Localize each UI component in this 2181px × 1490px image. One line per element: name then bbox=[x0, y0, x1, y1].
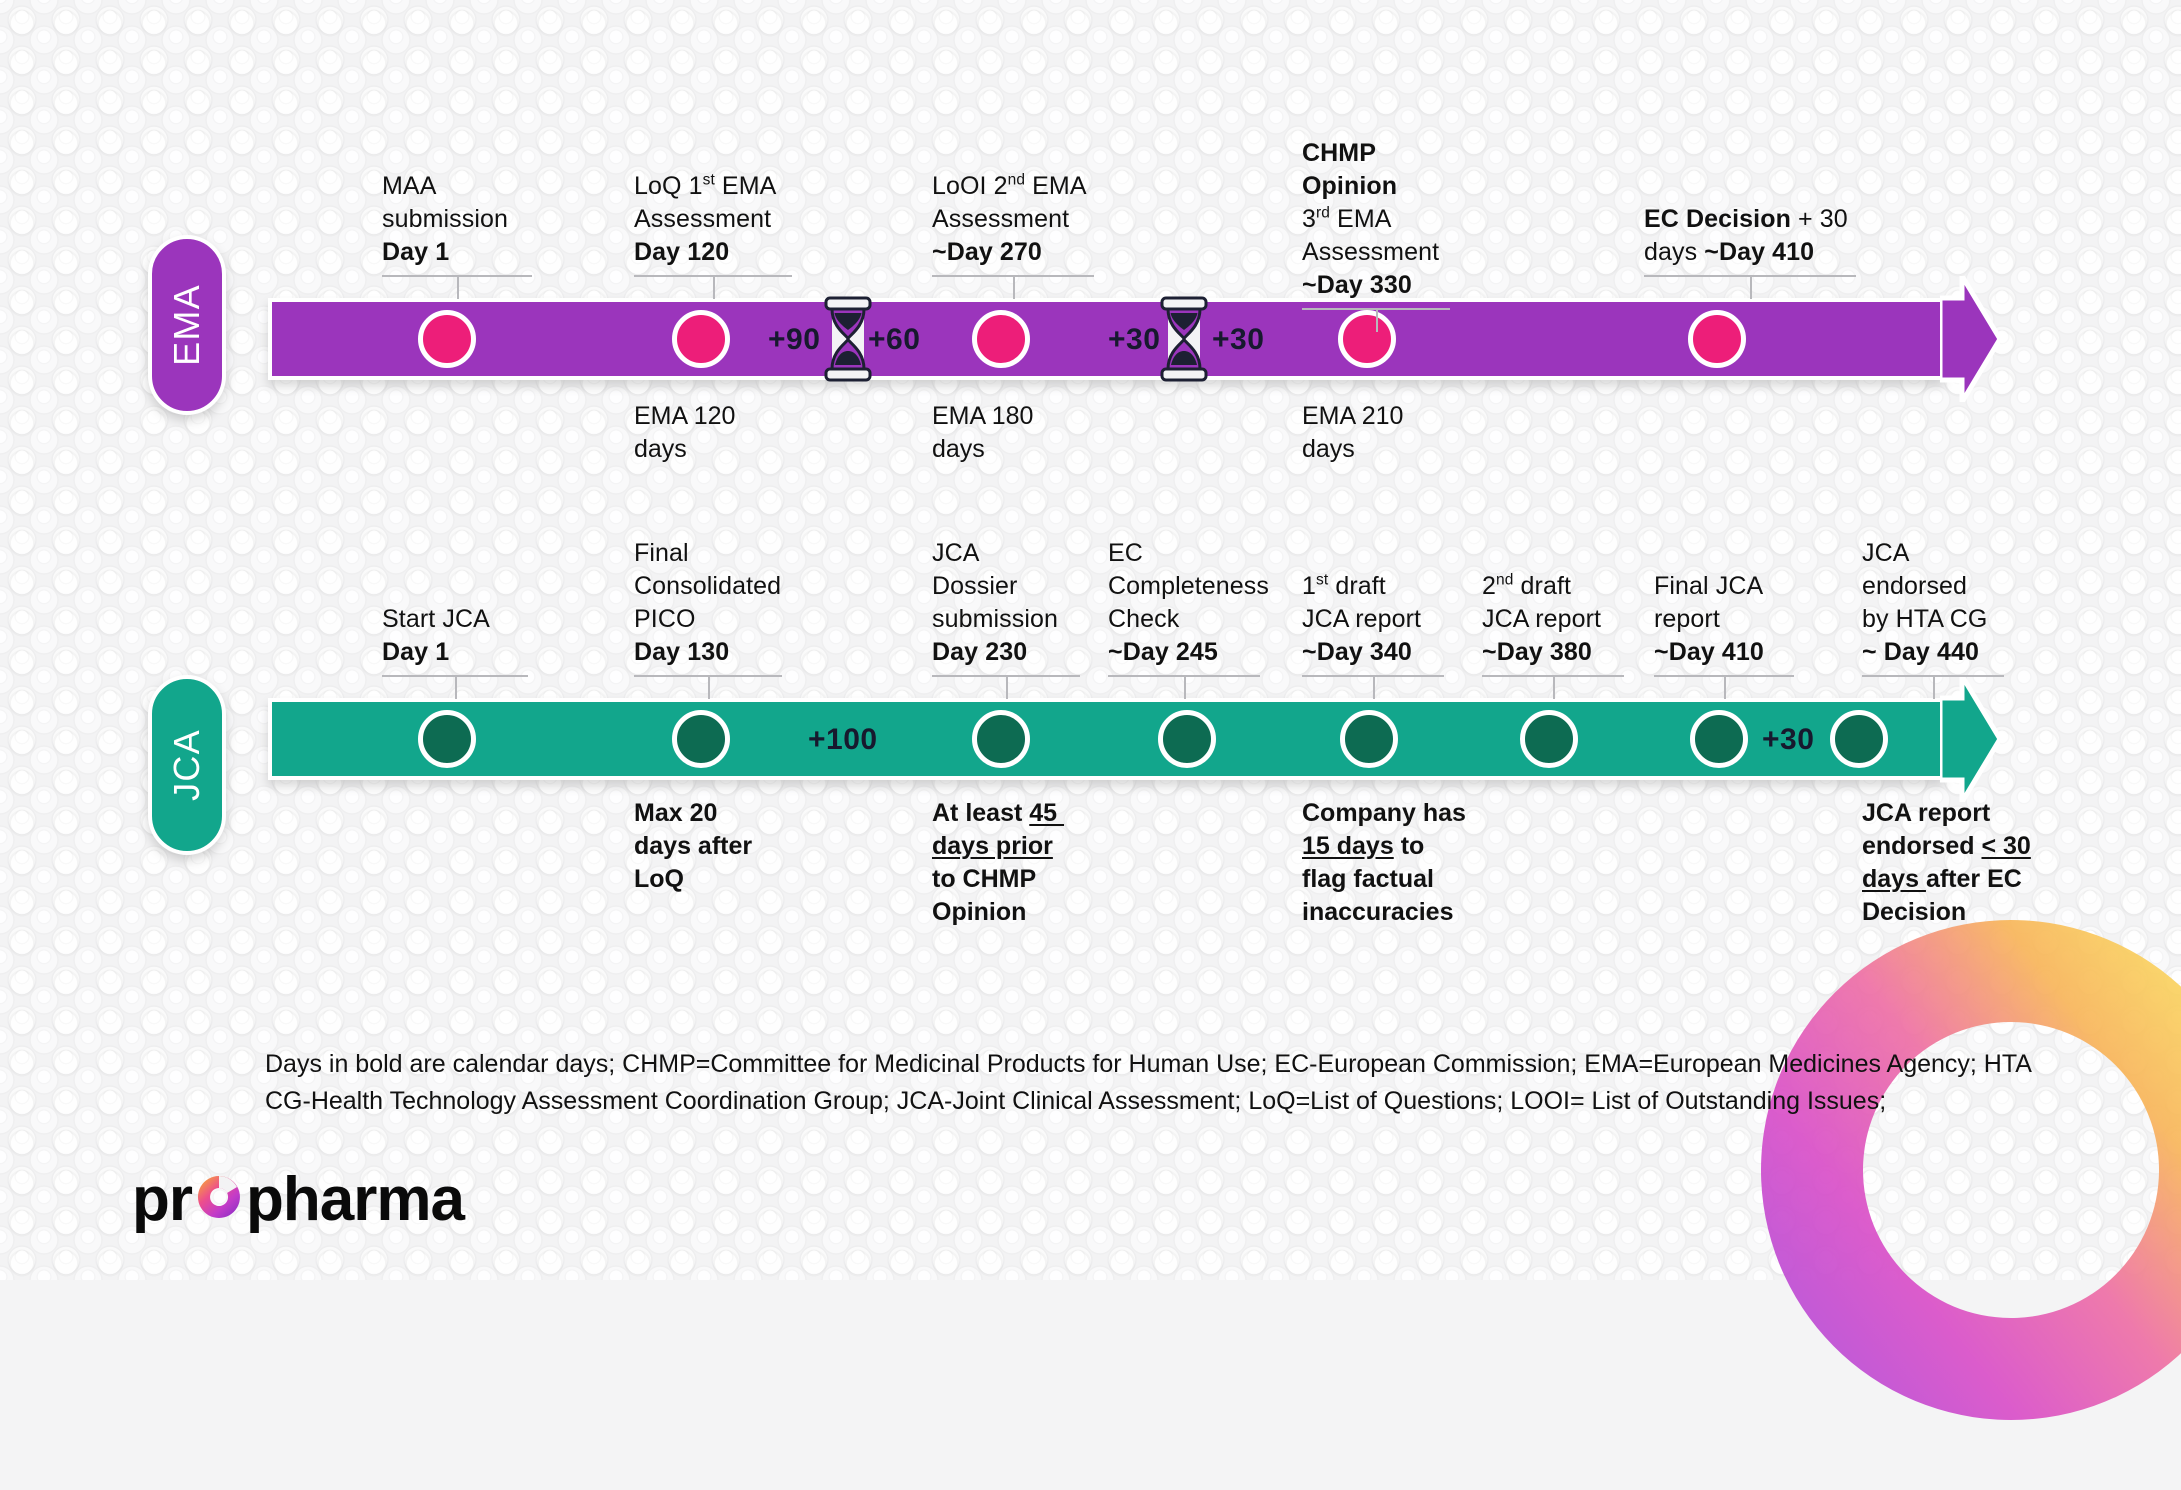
ema-gap-label-2: +60 bbox=[868, 323, 920, 357]
logo-text-post: pharma bbox=[246, 1168, 464, 1232]
jca-callout-4-connector bbox=[1108, 675, 1260, 677]
ema-callout-1-connector bbox=[382, 275, 532, 277]
ema-callout-2-connector bbox=[634, 275, 792, 277]
footnote-text: Days in bold are calendar days; CHMP=Com… bbox=[265, 1046, 2065, 1120]
ema-gap-label-4: +30 bbox=[1212, 323, 1264, 357]
jca-callout-8-line3: by HTA CG bbox=[1862, 605, 1987, 633]
jca-callout-6: 2nd draft JCA report ~Day 380 bbox=[1482, 570, 1624, 677]
jca-callout-7-connector bbox=[1654, 675, 1794, 677]
ema-bar-arrowhead bbox=[1940, 276, 2000, 402]
jca-callout-4-line1: EC bbox=[1108, 539, 1143, 567]
jca-callout-7-line1: Final JCA bbox=[1654, 572, 1763, 600]
ema-callout-4: CHMP Opinion 3rd EMA Assessment ~Day 330 bbox=[1302, 137, 1450, 310]
ema-callout-5: EC Decision + 30 days ~Day 410 bbox=[1644, 203, 1856, 277]
jca-callout-1: Start JCA Day 1 bbox=[382, 603, 528, 677]
jca-callout-7-line2: report bbox=[1654, 605, 1720, 633]
jca-callout-8: JCA endorsed by HTA CG ~ Day 440 bbox=[1862, 537, 2004, 677]
jca-callout-6-day: ~Day 380 bbox=[1482, 638, 1592, 666]
ema-callout-4-title: CHMP Opinion bbox=[1302, 139, 1397, 200]
jca-callout-3-day: Day 230 bbox=[932, 638, 1027, 666]
jca-milestone-dot-8[interactable] bbox=[1830, 710, 1888, 768]
ema-sub-label-2: EMA 180days bbox=[932, 400, 1033, 466]
ema-callout-3: LoOI 2nd EMA Assessment ~Day 270 bbox=[932, 170, 1094, 277]
jca-milestone-dot-1[interactable] bbox=[418, 710, 476, 768]
ema-callout-2-line2: Assessment bbox=[634, 205, 771, 233]
ema-callout-1-day: Day 1 bbox=[382, 238, 449, 266]
jca-milestone-dot-2[interactable] bbox=[672, 710, 730, 768]
jca-callout-5-connector bbox=[1302, 675, 1444, 677]
ema-milestone-dot-1[interactable] bbox=[418, 310, 476, 368]
propharma-ring-icon bbox=[193, 1171, 245, 1223]
hourglass-icon-2 bbox=[1158, 296, 1210, 382]
jca-milestone-dot-3[interactable] bbox=[972, 710, 1030, 768]
ema-milestone-dot-3[interactable] bbox=[972, 310, 1030, 368]
jca-callout-7: Final JCA report ~Day 410 bbox=[1654, 570, 1794, 677]
jca-callout-3: JCA Dossier submission Day 230 bbox=[932, 537, 1080, 677]
jca-callout-6-line2: JCA report bbox=[1482, 605, 1601, 633]
jca-callout-7-day: ~Day 410 bbox=[1654, 638, 1764, 666]
ema-callout-2: LoQ 1st EMA Assessment Day 120 bbox=[634, 170, 792, 277]
jca-gap-label-2: +30 bbox=[1762, 723, 1814, 757]
jca-callout-8-line2: endorsed bbox=[1862, 572, 1967, 600]
track-pill-jca-label: JCA bbox=[166, 729, 208, 801]
jca-callout-3-line2: Dossier bbox=[932, 572, 1017, 600]
logo-text-pre: pr bbox=[132, 1168, 192, 1232]
ema-gap-label-3: +30 bbox=[1108, 323, 1160, 357]
ema-milestone-dot-5[interactable] bbox=[1688, 310, 1746, 368]
ema-callout-3-line2: Assessment bbox=[932, 205, 1069, 233]
jca-callout-8-connector bbox=[1862, 675, 2004, 677]
jca-note-1: Max 20days afterLoQ bbox=[634, 797, 814, 896]
track-pill-jca: JCA bbox=[148, 675, 226, 855]
ema-callout-1-line1: MAA bbox=[382, 172, 436, 200]
jca-callout-5-day: ~Day 340 bbox=[1302, 638, 1412, 666]
ema-callout-3-line1: LoOI 2nd EMA bbox=[932, 172, 1087, 200]
jca-callout-2-day: Day 130 bbox=[634, 638, 729, 666]
ema-callout-3-day: ~Day 270 bbox=[932, 238, 1042, 266]
jca-callout-5: 1st draft JCA report ~Day 340 bbox=[1302, 570, 1444, 677]
jca-callout-8-day: ~ Day 440 bbox=[1862, 638, 1979, 666]
jca-callout-4: EC Completeness Check ~Day 245 bbox=[1108, 537, 1260, 677]
jca-callout-5-line2: JCA report bbox=[1302, 605, 1421, 633]
jca-callout-8-line1: JCA bbox=[1862, 539, 1910, 567]
jca-milestone-dot-6[interactable] bbox=[1520, 710, 1578, 768]
ema-gap-label-1: +90 bbox=[768, 323, 820, 357]
ema-callout-2-day: Day 120 bbox=[634, 238, 729, 266]
hourglass-icon-1 bbox=[822, 296, 874, 382]
ema-callout-4-line1: 3rd EMA bbox=[1302, 205, 1392, 233]
ema-callout-1: MAA submission Day 1 bbox=[382, 170, 532, 277]
jca-callout-3-line3: submission bbox=[932, 605, 1058, 633]
jca-gap-label-1: +100 bbox=[808, 723, 878, 757]
jca-callout-1-day: Day 1 bbox=[382, 638, 449, 666]
decorative-gradient-ring bbox=[1691, 850, 2181, 1490]
ema-callout-2-line1: LoQ 1st EMA bbox=[634, 172, 776, 200]
jca-callout-4-line3: Check bbox=[1108, 605, 1179, 633]
jca-callout-2: Final Consolidated PICO Day 130 bbox=[634, 537, 782, 677]
ema-callout-3-connector bbox=[932, 275, 1094, 277]
propharma-logo-text: pr pharma bbox=[132, 1168, 464, 1232]
ema-callout-1-line2: submission bbox=[382, 205, 508, 233]
ema-callout-4-day: ~Day 330 bbox=[1302, 271, 1412, 299]
ema-callout-5-line2: days ~Day 410 bbox=[1644, 238, 1814, 266]
jca-callout-2-line3: PICO bbox=[634, 605, 696, 633]
jca-callout-3-line1: JCA bbox=[932, 539, 980, 567]
jca-callout-2-line2: Consolidated bbox=[634, 572, 781, 600]
jca-callout-6-line1: 2nd draft bbox=[1482, 572, 1571, 600]
jca-callout-1-connector bbox=[382, 675, 528, 677]
jca-callout-3-connector bbox=[932, 675, 1080, 677]
jca-note-3: Company has15 days toflag factualinaccur… bbox=[1302, 797, 1512, 929]
jca-callout-4-day: ~Day 245 bbox=[1108, 638, 1218, 666]
ema-sub-label-1: EMA 120days bbox=[634, 400, 735, 466]
ema-milestone-dot-2[interactable] bbox=[672, 310, 730, 368]
ema-callout-4-line2: Assessment bbox=[1302, 238, 1439, 266]
ema-callout-5-line1: EC Decision + 30 bbox=[1644, 205, 1848, 233]
ema-milestone-dot-4[interactable] bbox=[1338, 310, 1396, 368]
jca-note-4: JCA reportendorsed < 30days after ECDeci… bbox=[1862, 797, 2072, 929]
propharma-logo: pr pharma bbox=[132, 1168, 464, 1232]
ema-callout-4-connector bbox=[1302, 308, 1450, 310]
jca-callout-2-connector bbox=[634, 675, 782, 677]
jca-callout-1-line1: Start JCA bbox=[382, 605, 490, 633]
ema-callout-5-connector bbox=[1644, 275, 1856, 277]
jca-callout-5-line1: 1st draft bbox=[1302, 572, 1386, 600]
jca-callout-4-line2: Completeness bbox=[1108, 572, 1269, 600]
jca-note-2: At least 45 days priorto CHMPOpinion bbox=[932, 797, 1122, 929]
jca-bar-arrowhead bbox=[1940, 676, 2000, 802]
track-pill-ema-label: EMA bbox=[166, 284, 208, 366]
ema-sub-label-3: EMA 210days bbox=[1302, 400, 1403, 466]
jca-milestone-dot-4[interactable] bbox=[1158, 710, 1216, 768]
track-pill-ema: EMA bbox=[148, 235, 226, 415]
jca-milestone-dot-5[interactable] bbox=[1340, 710, 1398, 768]
jca-callout-2-line1: Final bbox=[634, 539, 689, 567]
jca-callout-6-connector bbox=[1482, 675, 1624, 677]
jca-milestone-dot-7[interactable] bbox=[1690, 710, 1748, 768]
